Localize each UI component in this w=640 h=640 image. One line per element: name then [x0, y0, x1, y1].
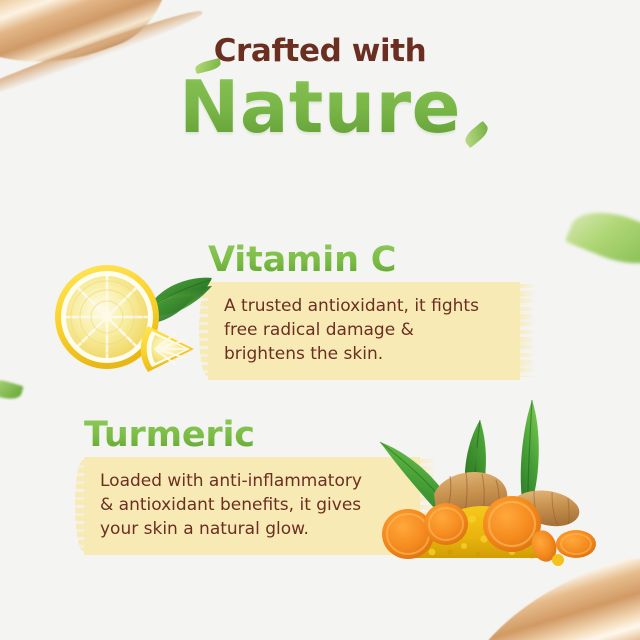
- lemon-illustration: [44, 254, 230, 380]
- headline-line-2: Nature: [0, 71, 640, 143]
- ingredient-description: A trusted antioxidant, it fights free ra…: [224, 294, 486, 366]
- headline-line-1: Crafted with: [0, 36, 640, 67]
- promo-canvas: Crafted with Nature: [0, 0, 640, 640]
- page-title: Crafted with Nature: [0, 36, 640, 143]
- leaf-icon: [565, 199, 640, 278]
- ingredient-description: Loaded with anti-inflammatory & antioxid…: [100, 469, 386, 541]
- ingredient-highlight-band: Loaded with anti-inflammatory & antioxid…: [84, 457, 420, 555]
- ingredient-highlight-band: A trusted antioxidant, it fights free ra…: [208, 282, 520, 380]
- leaf-icon: [0, 376, 24, 402]
- ingredient-card-vitamin-c: Vitamin C A trusted antioxidant, it figh…: [208, 243, 538, 380]
- turmeric-illustration: [372, 394, 604, 566]
- ingredient-title: Vitamin C: [208, 243, 538, 278]
